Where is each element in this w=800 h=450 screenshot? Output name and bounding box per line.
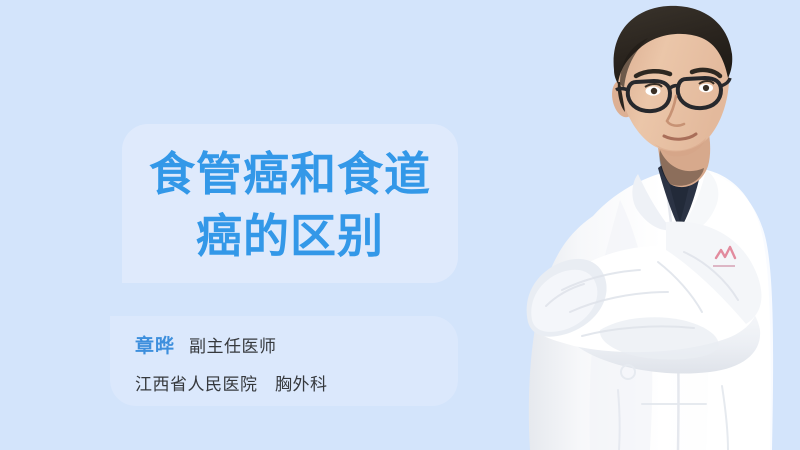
doctor-name: 章晔: [135, 331, 175, 358]
doctor-portrait: [470, 0, 800, 450]
slide-canvas: 食管癌和食道 癌的区别 章晔 副主任医师 江西省人民医院 胸外科: [0, 0, 800, 450]
byline-primary-row: 章晔 副主任医师: [135, 331, 277, 358]
page-title: 食管癌和食道 癌的区别: [122, 143, 458, 267]
doctor-title: 副主任医师: [189, 332, 277, 357]
doctor-affiliation: 江西省人民医院 胸外科: [135, 370, 328, 395]
head: [612, 6, 732, 156]
